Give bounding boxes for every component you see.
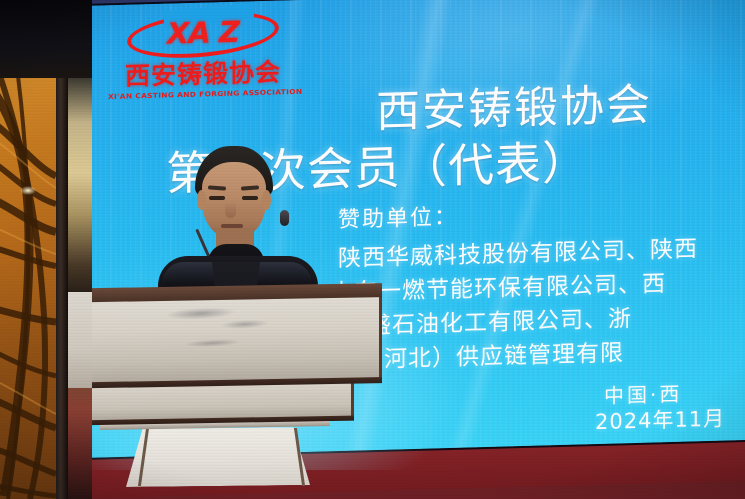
speaker-ear-right [262, 190, 271, 210]
podium [48, 286, 388, 499]
logo-chinese-name: 西安铸锻协会 [108, 58, 298, 90]
logo-letters: XA Z [113, 14, 293, 51]
branch-pattern-icon [0, 76, 56, 499]
microphone-icon [280, 210, 289, 226]
carved-branch-screen [0, 76, 56, 499]
speaker-eye-left [209, 196, 225, 200]
speaker-eye-right [242, 196, 258, 200]
screenshot-root: XA Z 西安铸锻协会 XI'AN CASTING AND FORGING AS… [0, 0, 745, 499]
sponsor-label: 赞助单位： [338, 199, 458, 234]
decor-dark-top [0, 0, 92, 78]
association-logo: XA Z 西安铸锻协会 XI'AN CASTING AND FORGING AS… [108, 4, 298, 101]
left-decor-panel [0, 0, 92, 499]
podium-column [126, 427, 310, 487]
screen-footer-date: 2024年11月 [595, 403, 725, 437]
logo-mark: XA Z [113, 4, 293, 63]
speaker-ear-left [197, 190, 206, 210]
decor-lamp-glow [20, 186, 36, 195]
podium-surface-marks [167, 299, 279, 357]
speaker-mouth [221, 224, 243, 228]
speaker-nose [225, 202, 236, 218]
